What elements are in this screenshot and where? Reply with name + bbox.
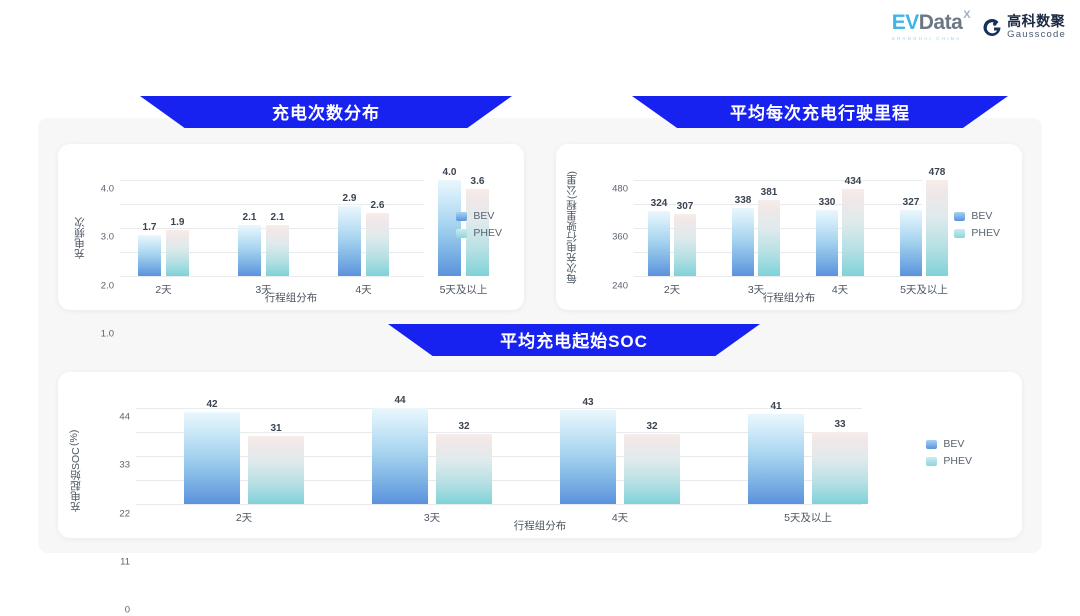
evdata-tagline: SHANGHAI CHINA (892, 36, 962, 41)
chart-1-bar-value-label: 3.6 (471, 176, 485, 187)
chart-3-bar-value-label: 32 (646, 421, 657, 432)
chart-1-y-tick: 4.0 (101, 184, 114, 195)
chart-title-ribbon-2: 平均每次充电行驶里程 (632, 96, 1008, 128)
chart-1-bar-phev[interactable]: 2.1 (266, 225, 289, 276)
chart-3-legend-item-phev[interactable]: PHEV (926, 455, 972, 467)
chart-2-bar-phev[interactable]: 434 (842, 189, 864, 276)
chart-3-bar-value-label: 31 (270, 423, 281, 434)
chart-3: 充电起始SOC (%) 01122334442312天44323天43324天4… (58, 372, 1022, 538)
chart-1-legend-item-phev[interactable]: PHEV (456, 227, 502, 239)
chart-2-bar-bev[interactable]: 338 (732, 208, 754, 276)
chart-2-bar-value-label: 307 (677, 201, 694, 212)
chart-card-charging-frequency: 充电频次 0.01.02.03.04.01.71.92天2.12.13天2.92… (58, 144, 524, 310)
evdata-x-icon: X (963, 10, 970, 21)
chart-1-bar-value-label: 2.1 (243, 212, 257, 223)
chart-3-y-tick: 11 (120, 556, 130, 567)
chart-1-plot-area: 0.01.02.03.04.01.71.92天2.12.13天2.92.64天4… (120, 170, 424, 276)
chart-3-bar-group: 43324天 (560, 398, 680, 504)
legend-swatch-phev-icon (954, 229, 965, 238)
chart-3-bar-bev[interactable]: 44 (372, 408, 428, 504)
chart-2-plot-area: 01202403604803243072天3383813天3304344天327… (634, 170, 922, 276)
chart-3-bar-value-label: 33 (834, 419, 845, 430)
chart-3-bar-phev[interactable]: 31 (248, 436, 304, 504)
chart-1-bar-value-label: 1.7 (143, 222, 157, 233)
evdata-wordmark: EVDataX (892, 12, 970, 33)
chart-2-bar-bev[interactable]: 327 (900, 210, 922, 276)
evdata-data-text: Data (919, 12, 963, 33)
chart-3-legend-item-bev[interactable]: BEV (926, 438, 972, 450)
gausscode-text: 高科数聚 Gausscode (1007, 14, 1066, 40)
chart-2-bar-value-label: 327 (903, 197, 920, 208)
chart-3-x-axis-label: 行程组分布 (58, 518, 1022, 533)
chart-1-bar-value-label: 1.9 (171, 217, 185, 228)
chart-1-bar-bev[interactable]: 1.7 (138, 235, 161, 276)
legend-swatch-phev-icon (456, 229, 467, 238)
chart-3-y-tick: 44 (119, 412, 130, 423)
chart-3-bar-bev[interactable]: 42 (184, 412, 240, 504)
legend-swatch-phev-icon (926, 457, 937, 466)
chart-1-legend-item-bev[interactable]: BEV (456, 210, 502, 222)
chart-1-gridline: 0.0 (120, 276, 424, 277)
chart-3-plot-area: 01122334442312天44323天43324天41335天及以上 (136, 398, 862, 504)
chart-3-bar-value-label: 44 (394, 395, 405, 406)
chart-3-y-tick: 33 (119, 460, 130, 471)
chart-2-legend: BEVPHEV (954, 210, 1000, 239)
legend-label: PHEV (943, 455, 972, 467)
chart-1-bar-phev[interactable]: 2.6 (366, 213, 389, 276)
chart-1-bar-value-label: 4.0 (443, 167, 457, 178)
chart-1-bar-bev[interactable]: 2.9 (338, 206, 361, 276)
chart-2-bar-value-label: 338 (735, 195, 752, 206)
chart-2-bar-value-label: 478 (929, 167, 946, 178)
chart-1-bar-group: 1.71.92天 (138, 170, 210, 276)
chart-2-bar-phev[interactable]: 381 (758, 200, 780, 276)
chart-2-gridline: 0 (634, 276, 922, 277)
chart-2-y-tick: 480 (612, 184, 628, 195)
chart-3-bar-phev[interactable]: 32 (624, 434, 680, 504)
chart-3-bar-value-label: 32 (458, 421, 469, 432)
chart-title-text-2: 平均每次充电行驶里程 (730, 99, 910, 124)
evdata-ev-text: EV (892, 12, 919, 33)
chart-1-y-tick: 3.0 (101, 232, 114, 243)
legend-swatch-bev-icon (456, 212, 467, 221)
brand-logo-bar: EVDataX SHANGHAI CHINA 高科数聚 Gausscode (892, 12, 1066, 41)
evdata-logo: EVDataX SHANGHAI CHINA (892, 12, 970, 41)
legend-label: BEV (943, 438, 964, 450)
chart-title-ribbon-1: 充电次数分布 (140, 96, 512, 128)
chart-2-x-axis-label: 行程组分布 (556, 290, 1022, 305)
gausscode-g-mark-icon (982, 17, 1002, 37)
chart-3-y-axis-label: 充电起始SOC (%) (68, 396, 83, 512)
chart-3-y-tick: 0 (125, 605, 130, 616)
chart-3-y-axis-label-main: 充电起始SOC (68, 447, 83, 512)
chart-2-y-tick: 360 (612, 232, 628, 243)
chart-2-bar-value-label: 434 (845, 176, 862, 187)
chart-1-bar-group: 2.12.13天 (238, 170, 310, 276)
chart-2-bar-value-label: 330 (819, 197, 836, 208)
legend-swatch-bev-icon (926, 440, 937, 449)
gausscode-en-name: Gausscode (1007, 30, 1066, 40)
chart-1-y-axis-label: 充电频次 (72, 190, 87, 286)
chart-2-bar-group: 3243072天 (648, 170, 712, 276)
chart-1-y-tick: 1.0 (101, 328, 114, 339)
chart-3-bar-group: 42312天 (184, 398, 304, 504)
legend-label: PHEV (473, 227, 502, 239)
chart-title-text-3: 平均充电起始SOC (500, 327, 648, 352)
chart-3-bar-bev[interactable]: 43 (560, 410, 616, 504)
chart-2-legend-item-phev[interactable]: PHEV (954, 227, 1000, 239)
chart-1-bar-value-label: 2.6 (371, 200, 385, 211)
chart-3-bar-phev[interactable]: 33 (812, 432, 868, 504)
chart-card-avg-range-per-charge: 每次充电行驶里程 (公里) 01202403604803243072天33838… (556, 144, 1022, 310)
chart-3-gridline: 0 (136, 504, 862, 505)
gausscode-logo: 高科数聚 Gausscode (982, 14, 1066, 40)
chart-2-bar-bev[interactable]: 324 (648, 211, 670, 276)
chart-1-bar-value-label: 2.1 (271, 212, 285, 223)
gausscode-cn-name: 高科数聚 (1007, 14, 1066, 28)
chart-3-bar-value-label: 42 (206, 399, 217, 410)
chart-3-bar-group: 44323天 (372, 398, 492, 504)
chart-2-bar-group: 3383813天 (732, 170, 796, 276)
chart-1-bar-value-label: 2.9 (343, 193, 357, 204)
chart-2-y-axis-label-unit: (公里) (564, 171, 579, 199)
chart-2-bar-value-label: 324 (651, 198, 668, 209)
chart-2-legend-item-bev[interactable]: BEV (954, 210, 1000, 222)
chart-3-y-axis-label-unit: (%) (68, 430, 83, 446)
chart-3-bar-phev[interactable]: 32 (436, 434, 492, 504)
legend-label: BEV (473, 210, 494, 222)
chart-1-bar-phev[interactable]: 1.9 (166, 230, 189, 276)
chart-1-x-axis-label: 行程组分布 (58, 290, 524, 305)
chart-card-avg-start-soc: 充电起始SOC (%) 01122334442312天44323天43324天4… (58, 372, 1022, 538)
chart-2-y-axis-label: 每次充电行驶里程 (公里) (564, 166, 579, 284)
legend-label: BEV (971, 210, 992, 222)
chart-2-bar-value-label: 381 (761, 187, 778, 198)
chart-2-bar-phev[interactable]: 307 (674, 214, 696, 276)
chart-1-bar-bev[interactable]: 2.1 (238, 225, 261, 276)
chart-1-bar-group: 2.92.64天 (338, 170, 410, 276)
chart-3-bar-value-label: 41 (770, 401, 781, 412)
chart-1-legend: BEVPHEV (456, 210, 502, 239)
chart-1: 充电频次 0.01.02.03.04.01.71.92天2.12.13天2.92… (58, 144, 524, 310)
chart-2-bar-phev[interactable]: 478 (926, 180, 948, 276)
chart-3-bar-value-label: 43 (582, 397, 593, 408)
chart-2-bar-bev[interactable]: 330 (816, 210, 838, 276)
chart-title-text-1: 充电次数分布 (272, 99, 380, 124)
chart-2-y-axis-label-main: 每次充电行驶里程 (564, 200, 579, 284)
chart-3-bar-group: 41335天及以上 (748, 398, 868, 504)
chart-3-legend: BEVPHEV (926, 438, 972, 467)
chart-3-bar-bev[interactable]: 41 (748, 414, 804, 504)
chart-2: 每次充电行驶里程 (公里) 01202403604803243072天33838… (556, 144, 1022, 310)
legend-swatch-bev-icon (954, 212, 965, 221)
chart-title-ribbon-3: 平均充电起始SOC (388, 324, 760, 356)
chart-2-bar-group: 3304344天 (816, 170, 880, 276)
legend-label: PHEV (971, 227, 1000, 239)
